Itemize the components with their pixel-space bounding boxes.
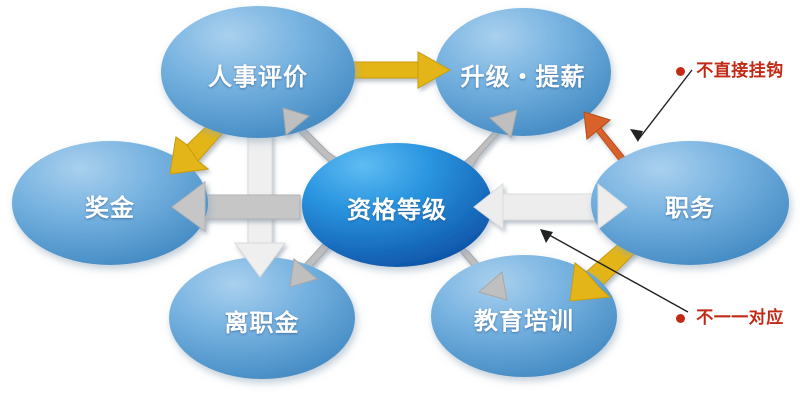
node-ellipse-education-training[interactable]	[431, 255, 617, 377]
annotation-not-one-to-one-match-text: 不一一对应	[696, 308, 784, 327]
bullet-dot-icon	[676, 67, 685, 76]
node-ellipse-qualification-grade[interactable]	[302, 143, 492, 267]
bullet-dot-icon	[676, 314, 685, 323]
annotation-no-direct-link: 不直接挂钩	[676, 56, 784, 81]
annotation-no-direct-link-text: 不直接挂钩	[696, 61, 784, 80]
node-ellipse-severance-pay[interactable]	[169, 257, 355, 379]
annotation-not-one-to-one-match: 不一一对应	[676, 303, 784, 328]
diagram-canvas: 人事评价 升级・提薪 奖金 资格等级 职务 离职金 教育培训 不直接挂钩 不一一…	[0, 0, 800, 416]
node-ellipse-hr-evaluation[interactable]	[161, 6, 355, 138]
